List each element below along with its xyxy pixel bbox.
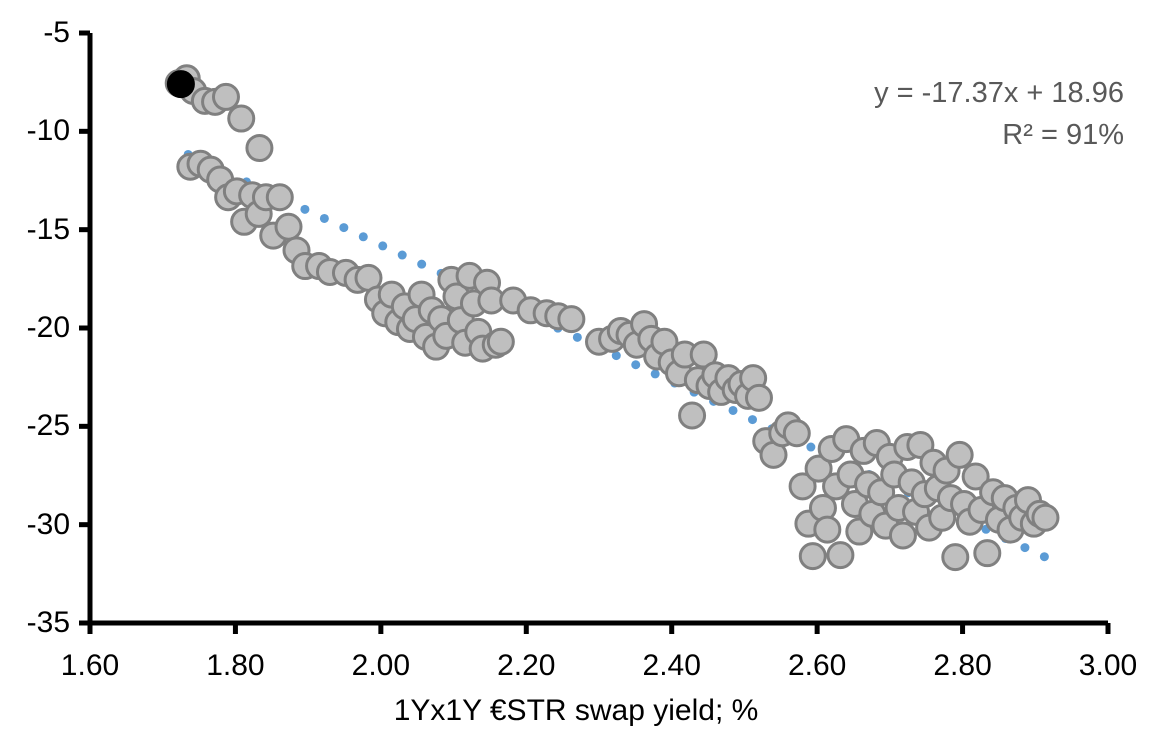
x-axis-title: 1Yx1Y €STR swap yield; % [0,694,1152,727]
r-squared-value: R² = 91% [874,114,1124,156]
x-tick-label: 2.80 [933,651,991,681]
regression-equation: y = -17.37x + 18.96 [874,72,1124,114]
y-tick-label: -5 [43,18,70,48]
y-tick-label: -20 [27,313,70,343]
y-tick-label: -35 [27,608,70,638]
x-tick-label: 2.00 [352,651,410,681]
x-tick-label: 2.40 [643,651,701,681]
y-tick-label: -10 [27,116,70,146]
y-tick-label: -25 [27,411,70,441]
y-tick-label: -15 [27,215,70,245]
x-tick-label: 1.60 [61,651,119,681]
x-tick-label: 2.20 [497,651,555,681]
x-tick-label: 3.00 [1079,651,1137,681]
x-tick-label: 1.80 [206,651,264,681]
scatter-chart: -5-10-15-20-25-30-35 1.601.802.002.202.4… [0,0,1152,745]
x-tick-label: 2.60 [788,651,846,681]
trendline-equation-annotation: y = -17.37x + 18.96 R² = 91% [874,72,1124,156]
y-tick-label: -30 [27,510,70,540]
highlight-point [168,72,193,97]
